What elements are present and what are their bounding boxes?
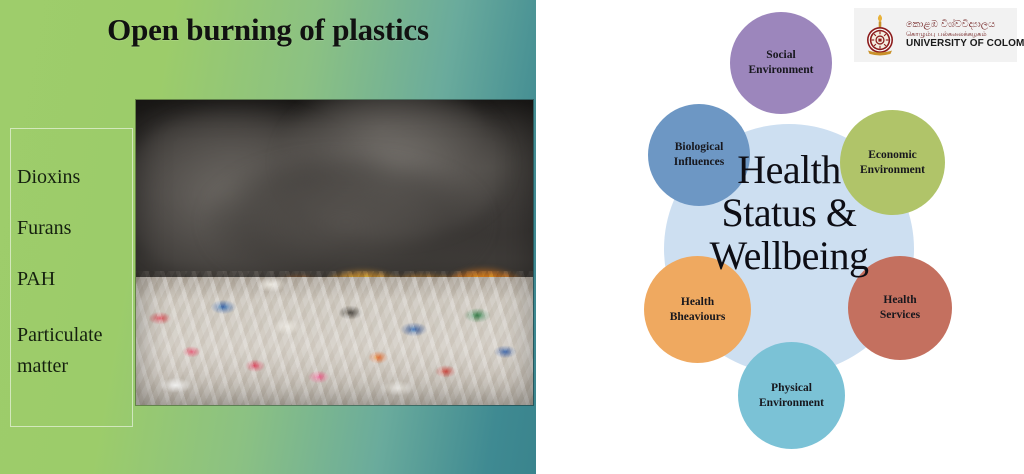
list-item: Furans [17,218,132,238]
bubble-label-line-2: Bheaviours [670,311,726,323]
page-title: Open burning of plastics [0,12,536,48]
university-name-english: UNIVERSITY OF COLOMBO [906,38,1024,49]
burning-plastic-waste-photo [136,100,533,405]
list-item: Dioxins [17,167,132,187]
university-crest-icon [860,13,900,57]
university-of-colombo-logo: කොළඹ විශ්වවිද්‍යාලය கொழும்பு பல்கலைக்கழக… [854,8,1017,62]
center-label-line-2: Status & [664,191,914,234]
bubble-label-line-2: Services [880,309,920,321]
photo-vignette [136,100,533,405]
left-slide-open-burning: Open burning of plastics Dioxins Furans … [0,0,536,474]
bubble-label-line-1: Health [883,294,916,306]
bubble-label-line-2: Environment [749,64,814,76]
bubble-label-line-1: Health [681,296,714,308]
university-name-tamil: கொழும்பு பல்கலைக்கழகம் [906,31,1024,38]
slide-pair-canvas: Open burning of plastics Dioxins Furans … [0,0,1024,474]
bubble-social-environment[interactable]: Social Environment [730,12,832,114]
health-status-center-label: Health Status & Wellbeing [664,148,914,278]
bubble-label-line-1: Physical [771,382,812,394]
list-item: Particulate matter [17,320,132,382]
list-item: PAH [17,269,132,289]
right-slide-health-determinants: Health Status & Wellbeing Social Environ… [548,0,1024,474]
bubble-label-line-1: Social [766,49,795,61]
center-label-line-1: Health [664,148,914,191]
university-name-block: කොළඹ විශ්වවිද්‍යාලය கொழும்பு பல்கலைக்கழக… [906,20,1024,49]
bubble-label-line-2: Environment [759,397,824,409]
pollutant-list-box: Dioxins Furans PAH Particulate matter [10,128,133,427]
center-label-line-3: Wellbeing [664,234,914,277]
bubble-physical-environment[interactable]: Physical Environment [738,342,845,449]
